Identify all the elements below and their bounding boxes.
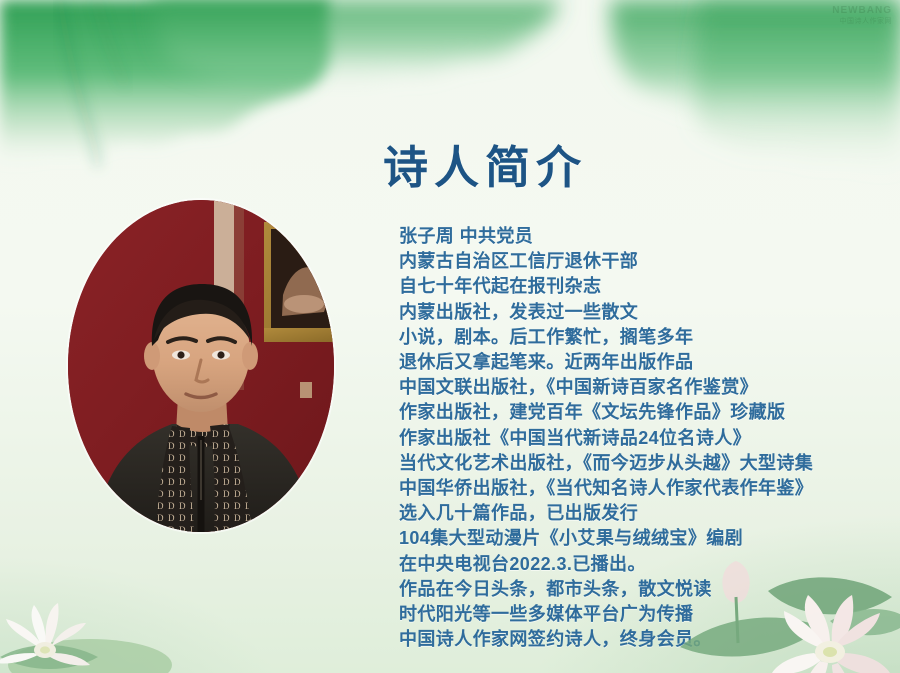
bio-line: 小说，剧本。后工作繁忙，搁笔多年 bbox=[399, 325, 879, 350]
poet-biography: 张子周 中共党员 内蒙古自治区工信厅退休干部 自七十年代起在报刊杂志 内蒙出版社… bbox=[399, 224, 879, 652]
watermark-logo-text: NEWBANG bbox=[806, 5, 892, 17]
poet-intro-slide: NEWBANG 中国诗人作家网 bbox=[0, 0, 900, 673]
bio-line: 选入几十篇作品，已出版发行 bbox=[399, 501, 879, 526]
bio-line: 中国文联出版社，《中国新诗百家名作鉴赏》 bbox=[399, 375, 879, 400]
bio-line: 内蒙出版社，发表过一些散文 bbox=[399, 300, 879, 325]
bio-line: 张子周 中共党员 bbox=[399, 224, 879, 249]
lotus-flower-left-icon bbox=[0, 561, 184, 673]
bio-line: 内蒙古自治区工信厅退休干部 bbox=[399, 249, 879, 274]
bio-line: 退休后又拿起笔来。近两年出版作品 bbox=[399, 350, 879, 375]
bio-line: 自七十年代起在报刊杂志 bbox=[399, 274, 879, 299]
bio-line: 104集大型动漫片《小艾果与绒绒宝》编剧 bbox=[399, 526, 879, 551]
bio-line: 时代阳光等一些多媒体平台广为传播 bbox=[399, 602, 879, 627]
bio-line: 作家出版社，建党百年《文坛先锋作品》珍藏版 bbox=[399, 400, 879, 425]
watermark-subtitle: 中国诗人作家网 bbox=[806, 17, 892, 27]
bio-line: 作品在今日头条，都市头条，散文悦读 bbox=[399, 577, 879, 602]
bio-line: 在中央电视台2022.3.已播出。 bbox=[399, 552, 879, 577]
bio-line: 中国华侨出版社，《当代知名诗人作家代表作年鉴》 bbox=[399, 476, 879, 501]
bio-line: 中国诗人作家网签约诗人，终身会员。 bbox=[399, 627, 879, 652]
bio-line: 当代文化艺术出版社，《而今迈步从头越》大型诗集 bbox=[399, 451, 879, 476]
poet-portrait-photo: D bbox=[68, 200, 334, 532]
bio-line: 作家出版社《中国当代新诗品24位名诗人》 bbox=[399, 426, 879, 451]
page-title: 诗人简介 bbox=[383, 139, 683, 197]
site-watermark: NEWBANG 中国诗人作家网 bbox=[806, 3, 892, 29]
